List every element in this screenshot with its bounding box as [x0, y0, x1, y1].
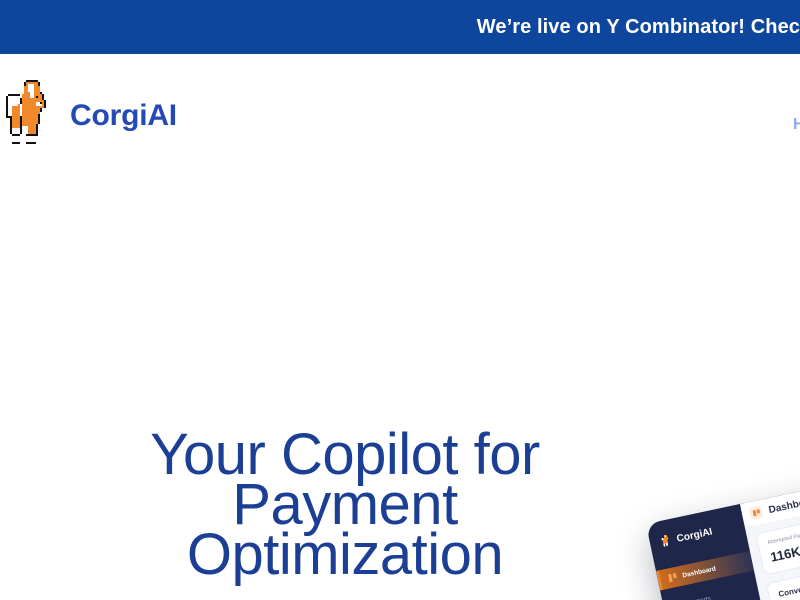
main-nav: Home Pricing About [793, 116, 800, 134]
grid-icon [668, 573, 677, 582]
mockup-sidebar-brand: CorgiAI [648, 516, 745, 552]
product-screenshot-mockup: CorgiAI Dashboard [646, 455, 800, 600]
announcement-banner[interactable]: We’re live on Y Combinator! Check [0, 0, 800, 54]
mockup-sidebar-item-label: Reports [688, 595, 712, 600]
mockup-sidebar-item-label: Dashboard [682, 565, 717, 579]
brand-name: CorgiAI [70, 99, 177, 133]
hero-headline-line-3: Optimization [30, 530, 660, 580]
grid-icon [749, 506, 763, 520]
brand-logo[interactable]: CorgiAI [4, 78, 177, 154]
landing-page: We’re live on Y Combinator! Check [0, 0, 800, 600]
mockup-page-title: Dashboard [768, 494, 800, 516]
metric-card-value: 116K [769, 544, 800, 565]
hero-section: Your Copilot for Payment Optimization [0, 180, 800, 600]
announcement-banner-text: We’re live on Y Combinator! Check [477, 16, 800, 39]
corgi-dog-pixel-logo-icon [659, 533, 675, 549]
nav-link-home[interactable]: Home [793, 116, 800, 134]
mockup-topbar: Dashboard [740, 455, 800, 527]
dashboard-device-frame: CorgiAI Dashboard [646, 455, 800, 600]
corgi-dog-pixel-logo-icon [4, 78, 60, 154]
mockup-sidebar-brand-name: CorgiAI [676, 526, 714, 544]
site-header: CorgiAI Home Pricing About [0, 54, 800, 180]
hero-headline: Your Copilot for Payment Optimization [30, 430, 660, 580]
